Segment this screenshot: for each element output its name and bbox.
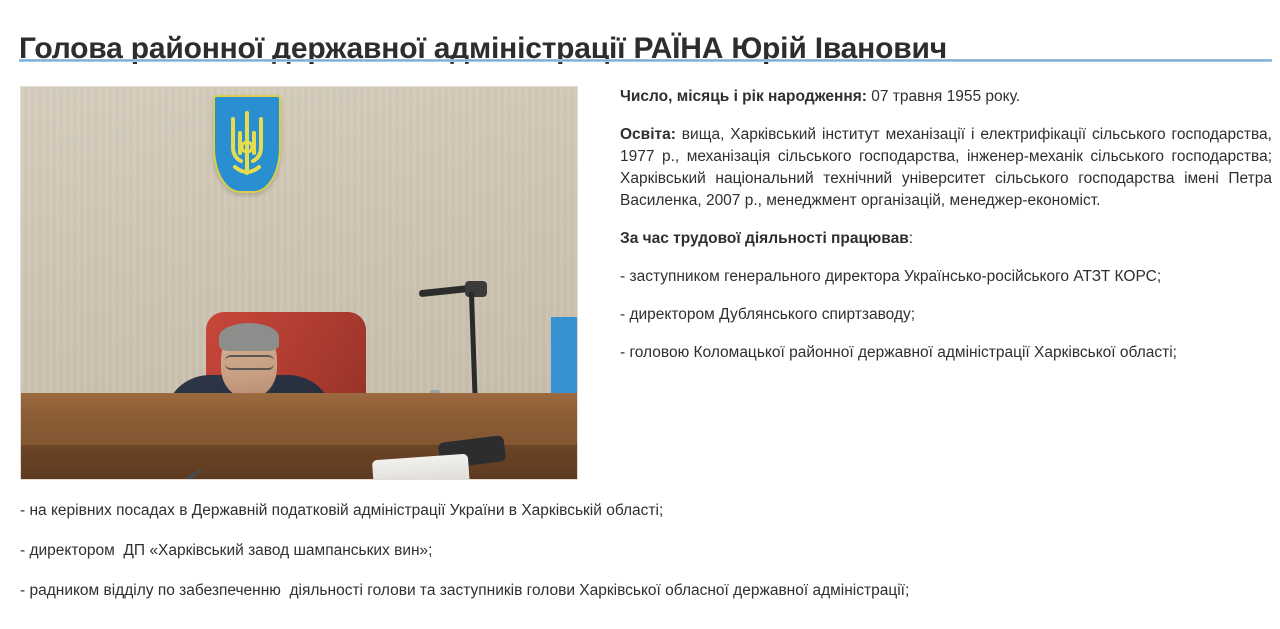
career-item: - на керівних посадах в Державній податк… bbox=[20, 500, 1260, 522]
portrait-photo[interactable] bbox=[20, 86, 578, 480]
birth-label: Число, місяць і рік народження: bbox=[620, 88, 867, 105]
trident-icon bbox=[225, 107, 269, 181]
person-glasses bbox=[225, 355, 274, 370]
education-label: Освіта: bbox=[620, 126, 676, 143]
career-label-colon: : bbox=[909, 230, 913, 247]
career-item: - заступником генерального директора Укр… bbox=[620, 266, 1272, 288]
career-item: - директором Дублянського спиртзаводу; bbox=[620, 304, 1272, 326]
lamp-base bbox=[476, 479, 518, 480]
career-item: - директором ДП «Харківський завод шампа… bbox=[20, 540, 1260, 562]
education-value: вища, Харківський інститут механізації і… bbox=[620, 126, 1272, 209]
ukraine-coat-of-arms-icon bbox=[213, 95, 281, 193]
career-item: - головою Коломацької районної державної… bbox=[620, 342, 1272, 364]
person-hair bbox=[219, 323, 279, 351]
page-root: Голова районної державної адміністрації … bbox=[0, 0, 1280, 629]
career-label: За час трудової діяльності працював bbox=[620, 230, 909, 247]
biography-bottom-block: - на керівних посадах в Державній податк… bbox=[20, 500, 1260, 620]
education-paragraph: Освіта: вища, Харківський інститут механ… bbox=[620, 124, 1272, 212]
title-divider bbox=[19, 59, 1272, 62]
career-item: - радником відділу по забезпеченню діяль… bbox=[20, 580, 1260, 602]
biography-column: Число, місяць і рік народження: 07 травн… bbox=[620, 86, 1272, 380]
birth-value: 07 травня 1955 року. bbox=[867, 88, 1020, 105]
career-heading: За час трудової діяльності працював: bbox=[620, 228, 1272, 250]
birth-paragraph: Число, місяць і рік народження: 07 травн… bbox=[620, 86, 1272, 108]
photo-scene bbox=[21, 87, 577, 479]
